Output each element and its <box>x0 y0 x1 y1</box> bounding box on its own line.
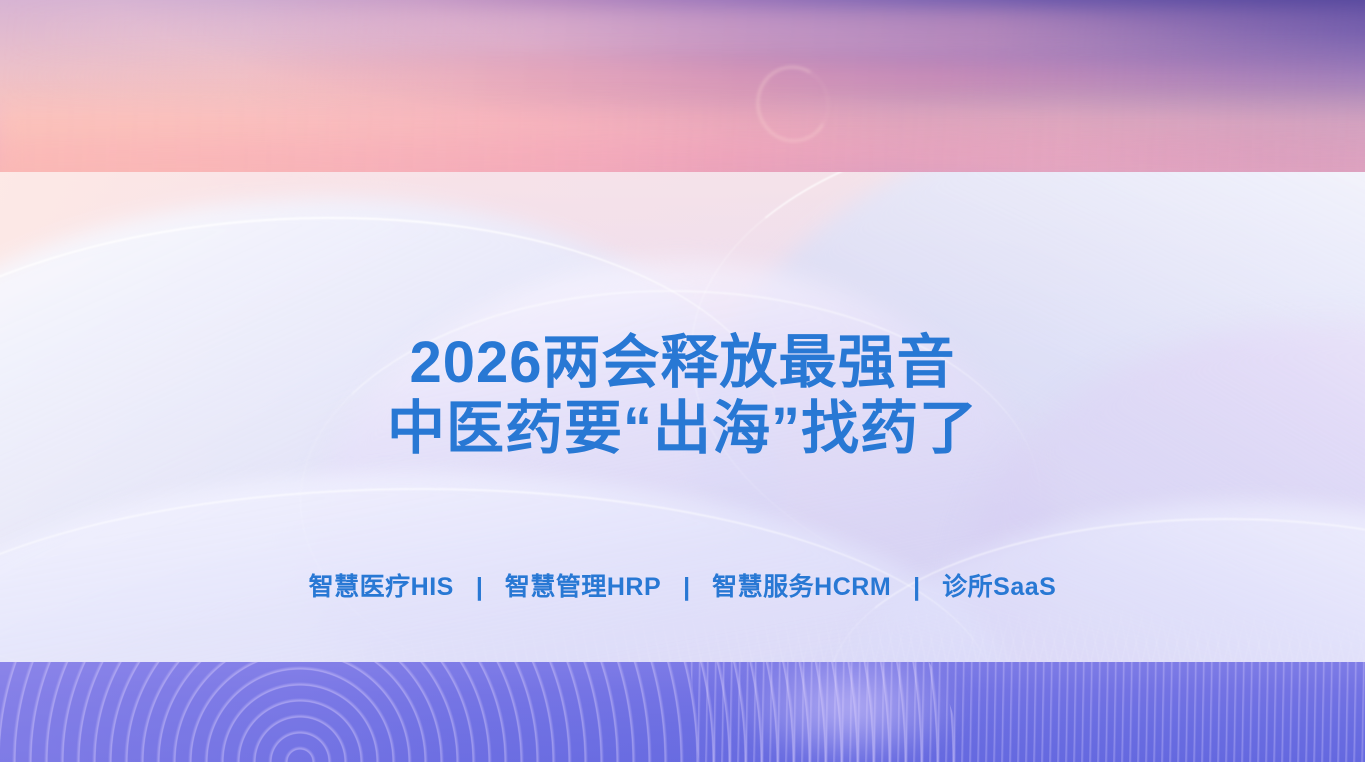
cloud-streak-2 <box>0 56 1365 96</box>
title-line-2: 中医药要“出海”找药了 <box>0 396 1365 462</box>
product-item-his[interactable]: 智慧医疗HIS <box>309 570 454 604</box>
product-item-hrp[interactable]: 智慧管理HRP <box>505 570 661 604</box>
poster-title: 2026两会释放最强音 中医药要“出海”找药了 <box>0 330 1365 462</box>
foreground-glow <box>690 662 1010 762</box>
foreground-band <box>0 662 1365 762</box>
title-line-1: 2026两会释放最强音 <box>0 330 1365 396</box>
product-separator-2: | <box>683 570 690 604</box>
dune-shape-foreground-left <box>0 472 1020 662</box>
product-separator-1: | <box>476 570 483 604</box>
product-item-hcrm[interactable]: 智慧服务HCRM <box>712 570 891 604</box>
cloud-streak-3 <box>0 104 1365 148</box>
poster-canvas: 2026两会释放最强音 中医药要“出海”找药了 智慧医疗HIS | 智慧管理HR… <box>0 0 1365 762</box>
foreground-ridge-lines-right <box>686 662 1365 762</box>
product-separator-3: | <box>913 570 920 604</box>
cloud-streak-4 <box>0 140 1365 172</box>
product-item-saas[interactable]: 诊所SaaS <box>942 570 1056 604</box>
contour-line-texture-right <box>611 440 1365 662</box>
sky-band <box>0 0 1365 172</box>
foreground-ridge-lines-left <box>0 662 960 762</box>
product-list: 智慧医疗HIS | 智慧管理HRP | 智慧服务HCRM | 诊所SaaS <box>0 570 1365 604</box>
contrail-ring-icon <box>749 58 837 149</box>
cloud-streak-1 <box>0 8 1365 54</box>
